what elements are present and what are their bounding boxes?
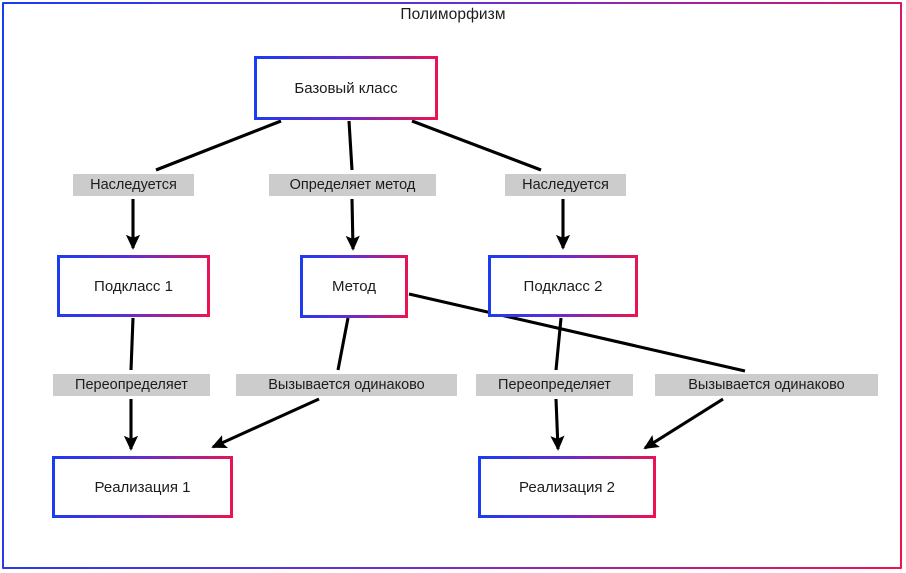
edge-base-to-subclass-1-upper — [156, 121, 281, 170]
edge-label-defines-method: Определяет метод — [269, 174, 436, 196]
edge-label-inherits-right: Наследуется — [505, 174, 626, 196]
edge-base-to-method-upper — [349, 121, 352, 170]
diagram-canvas: Полиморфизм — [0, 0, 906, 573]
node-method[interactable]: Метод — [300, 255, 408, 318]
node-subclass-2[interactable]: Подкласс 2 — [488, 255, 638, 317]
edge-method-to-impl-1-lower — [213, 399, 319, 447]
edge-subclass-2-to-impl-2-lower — [556, 399, 558, 449]
node-implementation-2[interactable]: Реализация 2 — [478, 456, 656, 518]
node-implementation-1-label: Реализация 1 — [95, 479, 191, 496]
node-base-class[interactable]: Базовый класс — [254, 56, 438, 120]
node-implementation-2-label: Реализация 2 — [519, 479, 615, 496]
edge-base-to-method-lower — [352, 199, 353, 249]
node-subclass-2-label: Подкласс 2 — [524, 278, 603, 295]
node-subclass-1[interactable]: Подкласс 1 — [57, 255, 210, 317]
node-method-label: Метод — [332, 278, 376, 295]
edge-base-to-subclass-2-upper — [412, 121, 541, 170]
edge-method-to-impl-2-lower — [645, 399, 723, 448]
edge-label-overrides-left: Переопределяет — [53, 374, 210, 396]
edge-subclass-2-to-impl-2-upper — [556, 318, 561, 370]
node-base-class-label: Базовый класс — [294, 80, 397, 97]
edge-label-inherits-left: Наследуется — [73, 174, 194, 196]
edge-label-overrides-right: Переопределяет — [476, 374, 633, 396]
edge-label-called-same-right: Вызывается одинаково — [655, 374, 878, 396]
node-implementation-1[interactable]: Реализация 1 — [52, 456, 233, 518]
node-subclass-1-label: Подкласс 1 — [94, 278, 173, 295]
edge-method-to-impl-1-upper — [338, 318, 348, 370]
edge-label-called-same-left: Вызывается одинаково — [236, 374, 457, 396]
edge-subclass-1-to-impl-1-upper — [131, 318, 133, 370]
